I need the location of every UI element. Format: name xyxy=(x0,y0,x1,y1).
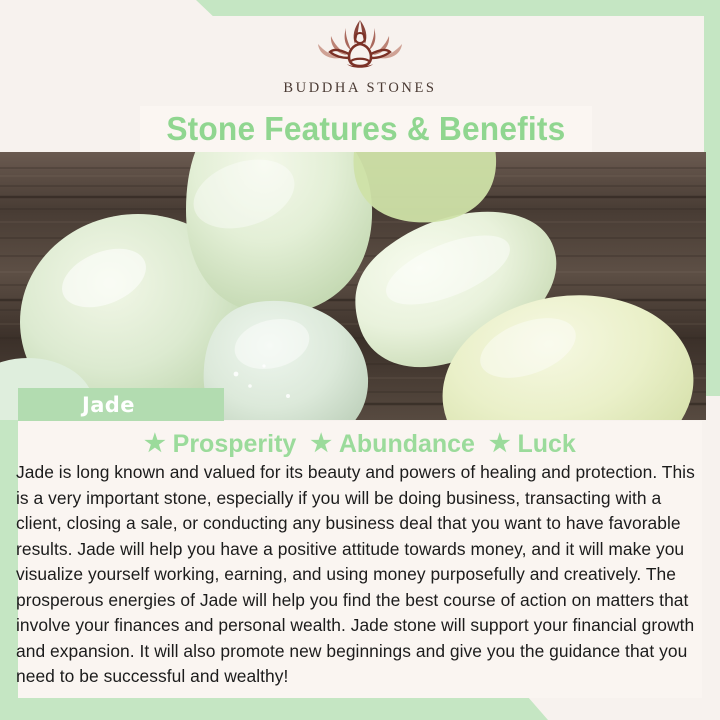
star-icon: ★ xyxy=(144,432,166,456)
decor-band-bottom xyxy=(0,698,548,720)
keyword-label: Abundance xyxy=(339,430,475,459)
infographic-page: BUDDHA STONES Stone Features & Benefits xyxy=(0,0,720,720)
keyword-label: Prosperity xyxy=(173,430,297,459)
lotus-meditation-figure-icon xyxy=(285,14,435,78)
stone-photo-image xyxy=(0,152,706,420)
keyword-prosperity: ★ Prosperity xyxy=(144,430,296,459)
page-title: Stone Features & Benefits xyxy=(166,110,565,148)
keyword-luck: ★ Luck xyxy=(489,430,576,459)
brand-name: BUDDHA STONES xyxy=(283,80,436,97)
stone-description: Jade is long known and valued for its be… xyxy=(16,460,708,690)
brand-logo: BUDDHA STONES xyxy=(0,14,720,106)
keyword-abundance: ★ Abundance xyxy=(310,430,475,459)
stone-name-label: Jade xyxy=(82,393,135,417)
title-band: Stone Features & Benefits xyxy=(140,106,592,152)
stone-name-bar: Jade xyxy=(18,388,224,421)
star-icon: ★ xyxy=(489,432,511,456)
stone-photo xyxy=(0,152,706,420)
keyword-list: ★ Prosperity ★ Abundance ★ Luck xyxy=(18,428,702,460)
star-icon: ★ xyxy=(310,432,332,456)
keyword-label: Luck xyxy=(517,430,575,459)
